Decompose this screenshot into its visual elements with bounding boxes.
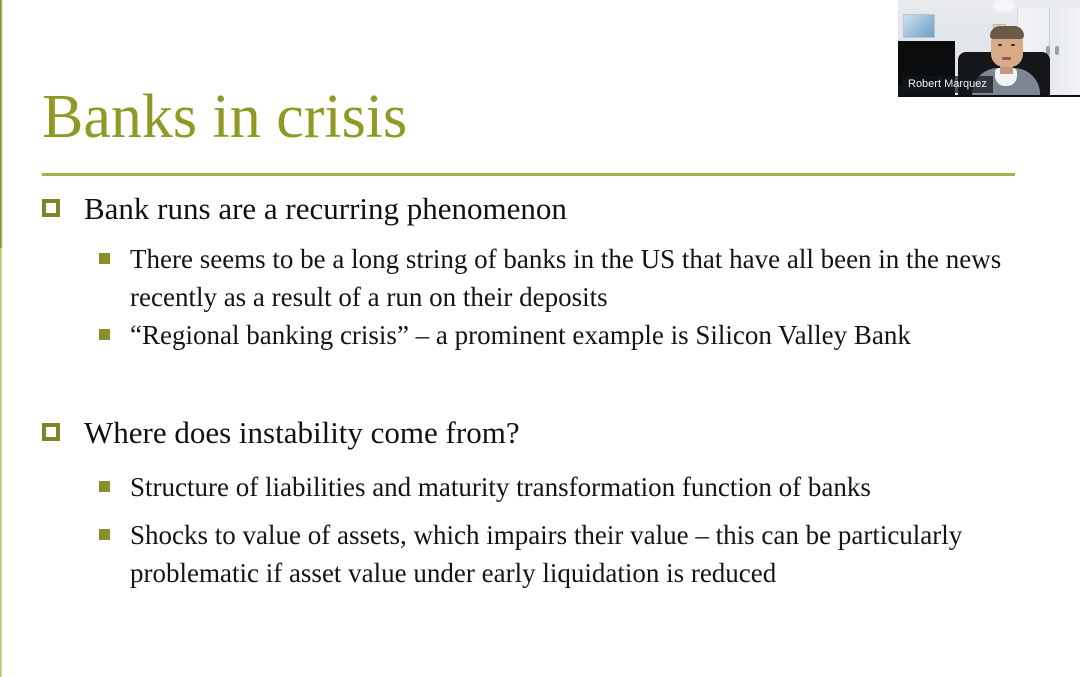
webcam-video-overlay[interactable]: Robert Marquez: [898, 0, 1080, 97]
presenter-mouth: [1002, 57, 1011, 60]
bullet-text: “Regional banking crisis” – a prominent …: [130, 320, 911, 350]
wall-picture-frame: [903, 14, 935, 38]
slide-title: Banks in crisis: [42, 86, 407, 148]
bullet-text: There seems to be a long string of banks…: [130, 244, 1001, 312]
bullet-square-filled-icon: [99, 253, 110, 264]
spacer: [0, 354, 1080, 412]
presenter-hair: [990, 26, 1024, 39]
spacer: [0, 506, 1080, 516]
bullet-text: Structure of liabilities and maturity tr…: [130, 472, 871, 502]
bullet-level2: “Regional banking crisis” – a prominent …: [0, 316, 1080, 354]
bullet-square-filled-icon: [99, 481, 110, 492]
title-underline-rule: [42, 173, 1015, 176]
spacer: [0, 458, 1080, 468]
bullet-level2: There seems to be a long string of banks…: [0, 240, 1080, 316]
bullet-square-outline-icon: [42, 199, 60, 217]
bullet-square-filled-icon: [99, 329, 110, 340]
bullet-text: Where does instability come from?: [84, 415, 520, 450]
slide: Banks in crisis Bank runs are a recurrin…: [0, 0, 1080, 677]
slide-body: Bank runs are a recurring phenomenon The…: [0, 188, 1080, 592]
bullet-level1: Where does instability come from?: [0, 412, 1080, 454]
presenter-eye-right: [1011, 44, 1015, 46]
bullet-level2: Shocks to value of assets, which impairs…: [0, 516, 1080, 592]
participant-name-label: Robert Marquez: [902, 76, 993, 93]
presenter-eye-left: [998, 44, 1002, 46]
bullet-square-filled-icon: [99, 529, 110, 540]
bullet-text: Bank runs are a recurring phenomenon: [84, 191, 567, 226]
ceiling-light-icon: [996, 2, 1012, 9]
presentation-screen: Banks in crisis Bank runs are a recurrin…: [0, 0, 1080, 677]
bullet-level2: Structure of liabilities and maturity tr…: [0, 468, 1080, 506]
bullet-level1: Bank runs are a recurring phenomenon: [0, 188, 1080, 230]
door-knob-icon: [1055, 46, 1059, 55]
bullet-square-outline-icon: [42, 423, 60, 441]
bullet-text: Shocks to value of assets, which impairs…: [130, 520, 962, 588]
